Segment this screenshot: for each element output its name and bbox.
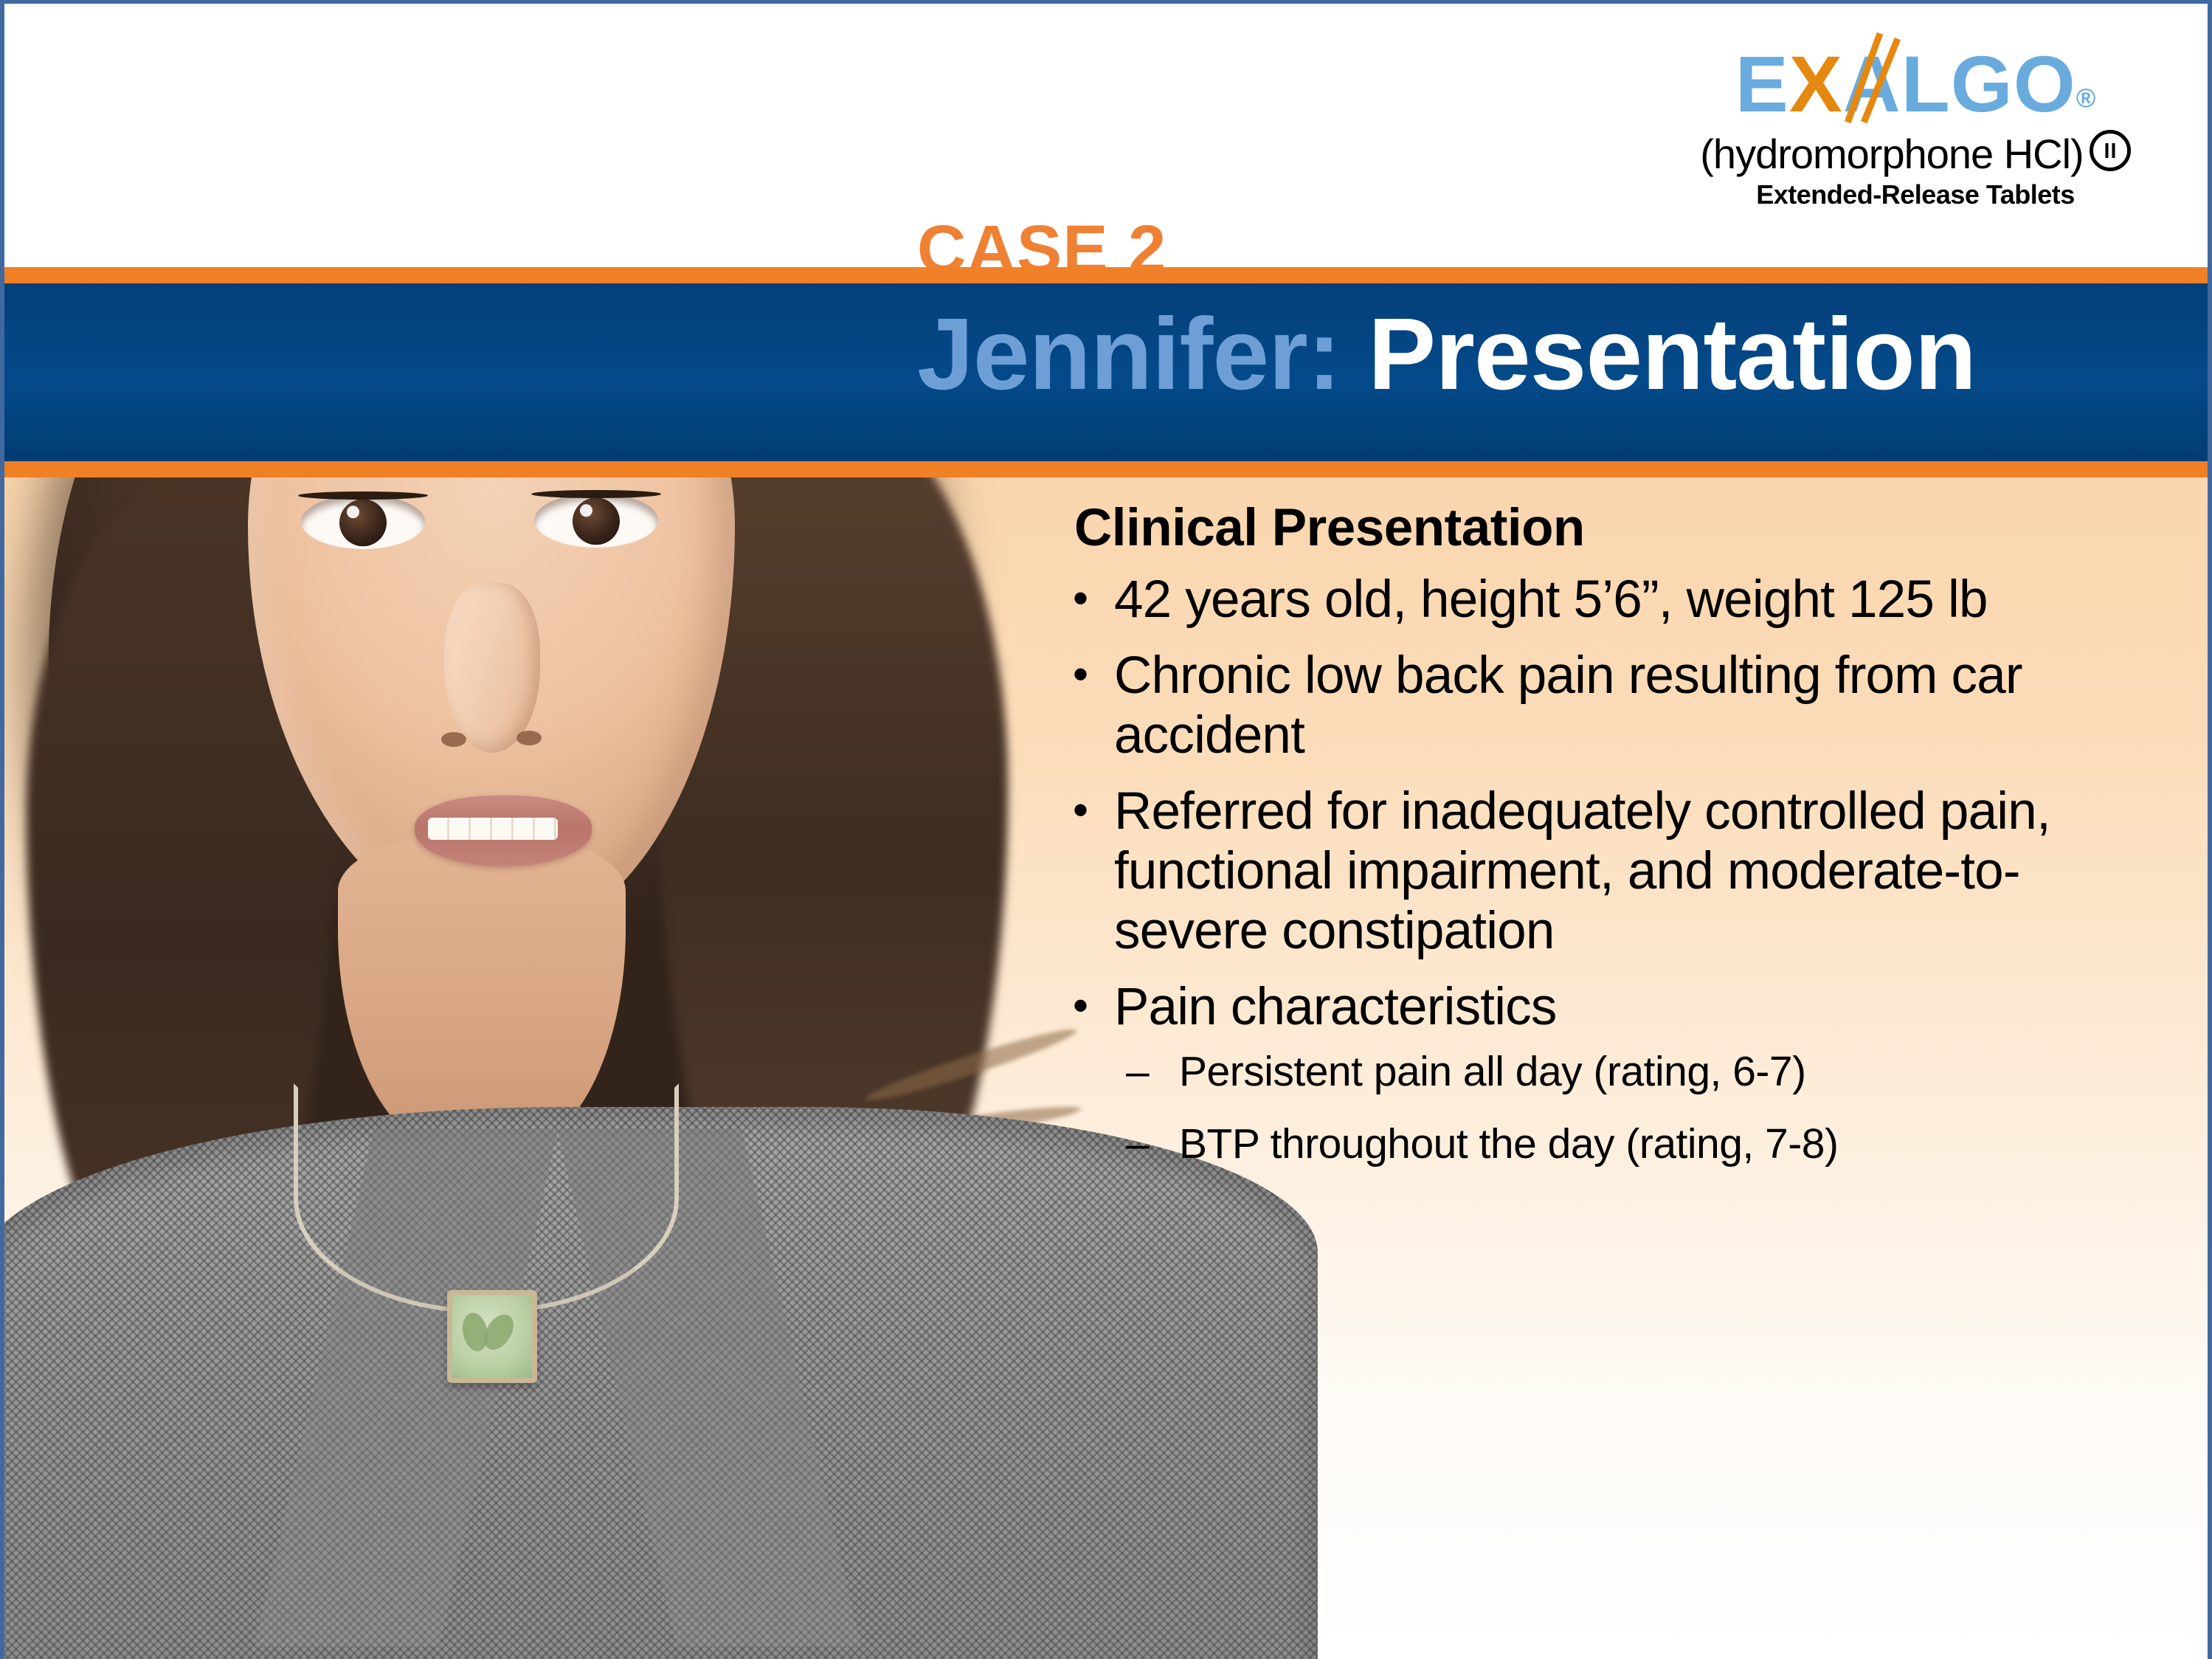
exalgo-logo: EXALGO® (hydromorphone HCl) Extended-Rel… bbox=[1687, 43, 2144, 210]
bullet-text: Pain characteristics bbox=[1114, 978, 1557, 1036]
sub-list-item: Persistent pain all day (rating, 6-7) bbox=[1114, 1047, 2123, 1096]
brand-letters-algo: ALGO bbox=[1843, 39, 2076, 128]
section-heading: Clinical Presentation bbox=[1074, 496, 2123, 561]
page-title-name: Jennifer: bbox=[917, 297, 1341, 411]
list-item: Chronic low back pain resulting from car… bbox=[1068, 646, 2123, 765]
slide: EXALGO® (hydromorphone HCl) Extended-Rel… bbox=[0, 0, 2212, 1659]
list-item: Referred for inadequately controlled pai… bbox=[1068, 782, 2123, 961]
clinical-presentation-block: Clinical Presentation 42 years old, heig… bbox=[1068, 496, 2123, 1192]
case-label-clip: CASE 2 bbox=[917, 215, 1167, 268]
logo-tagline: Extended-Release Tablets bbox=[1687, 180, 2144, 210]
bullet-text: 42 years old, height 5’6”, weight 125 lb bbox=[1114, 570, 1988, 629]
page-title: Jennifer: Presentation bbox=[917, 299, 1976, 410]
exalgo-wordmark-text: EXALGO® bbox=[1687, 43, 2144, 139]
list-item: Pain characteristics Persistent pain all… bbox=[1068, 977, 2123, 1168]
bullet-list: 42 years old, height 5’6”, weight 125 lb… bbox=[1068, 570, 2123, 1168]
cii-bars bbox=[2104, 143, 2115, 158]
case-label: CASE 2 bbox=[917, 215, 1167, 268]
exalgo-wordmark: EXALGO® bbox=[1687, 43, 2144, 125]
page-title-suffix: Presentation bbox=[1368, 297, 1976, 411]
sub-bullet-text: BTP throughout the day (rating, 7-8) bbox=[1179, 1120, 1838, 1167]
orange-rule-top bbox=[4, 267, 2208, 283]
sub-bullet-list: Persistent pain all day (rating, 6-7) BT… bbox=[1114, 1047, 2123, 1168]
bullet-text: Chronic low back pain resulting from car… bbox=[1114, 646, 2022, 765]
brand-letter-x: X bbox=[1789, 39, 1843, 128]
schedule-cii-icon bbox=[2090, 130, 2131, 171]
bullet-text: Referred for inadequately controlled pai… bbox=[1114, 782, 2050, 960]
registered-trademark-icon: ® bbox=[2076, 83, 2096, 113]
brand-letter-e: E bbox=[1735, 39, 1789, 128]
orange-rule-bottom bbox=[4, 461, 2208, 477]
sub-bullet-text: Persistent pain all day (rating, 6-7) bbox=[1179, 1048, 1806, 1095]
sub-list-item: BTP throughout the day (rating, 7-8) bbox=[1114, 1120, 2123, 1168]
list-item: 42 years old, height 5’6”, weight 125 lb bbox=[1068, 570, 2123, 630]
slide-border-right bbox=[2208, 0, 2212, 1659]
